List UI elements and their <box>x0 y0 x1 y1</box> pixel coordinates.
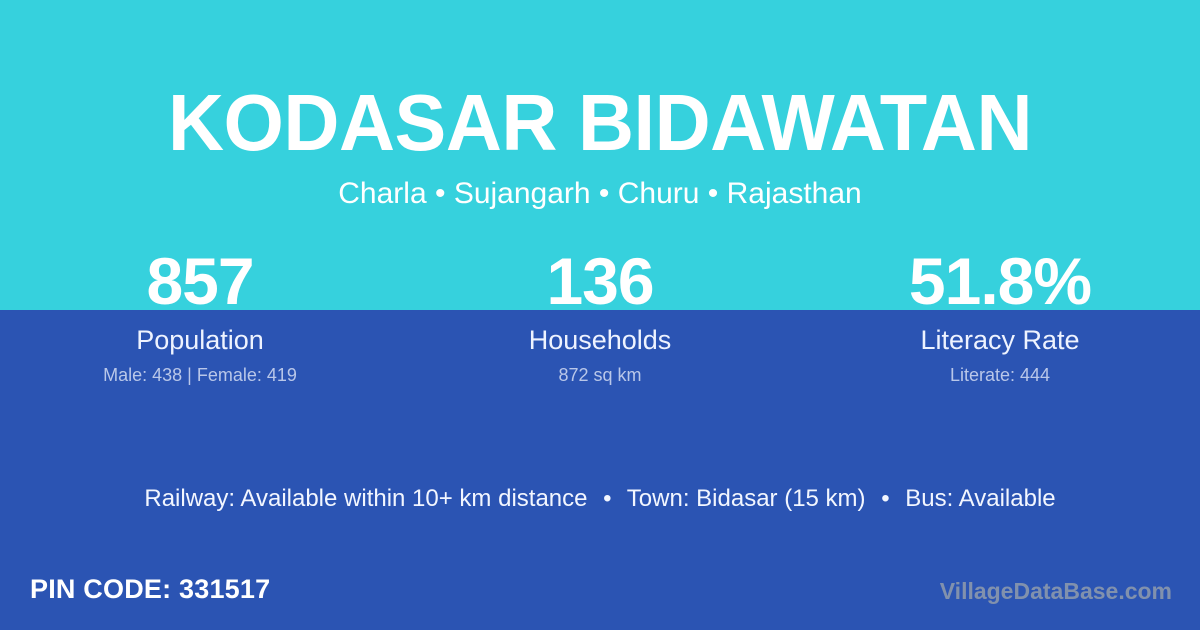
railway-info: Railway: Available within 10+ km distanc… <box>144 485 587 512</box>
literacy-rate-label: Literacy Rate <box>800 325 1200 355</box>
literate-count: Literate: 444 <box>800 364 1200 386</box>
literacy-rate-value: 51.8% <box>800 248 1200 314</box>
population-breakdown: Male: 438 | Female: 419 <box>0 364 400 386</box>
site-watermark: VillageDataBase.com <box>940 576 1172 606</box>
population-value: 857 <box>0 248 400 314</box>
footer: PIN CODE: 331517 VillageDataBase.com <box>0 572 1200 618</box>
page-title: KODASAR BIDAWATAN <box>18 0 1182 166</box>
households-label: Households <box>400 325 800 355</box>
village-info-card: KODASAR BIDAWATAN Charla • Sujangarh • C… <box>0 0 1200 630</box>
stat-population: 857 Population Male: 438 | Female: 419 <box>0 248 400 386</box>
bullet-separator-icon: • <box>872 483 898 515</box>
area-value: 872 sq km <box>400 364 800 386</box>
bus-info: Bus: Available <box>905 485 1055 512</box>
population-label: Population <box>0 325 400 355</box>
town-info: Town: Bidasar (15 km) <box>627 485 866 512</box>
households-value: 136 <box>400 248 800 314</box>
breadcrumb: Charla • Sujangarh • Churu • Rajasthan <box>0 166 1200 212</box>
stat-literacy-rate: 51.8% Literacy Rate Literate: 444 <box>800 248 1200 386</box>
bullet-separator-icon: • <box>594 483 620 515</box>
header: KODASAR BIDAWATAN Charla • Sujangarh • C… <box>0 0 1200 212</box>
stat-households: 136 Households 872 sq km <box>400 248 800 386</box>
infrastructure-line: Railway: Available within 10+ km distanc… <box>0 483 1200 515</box>
pin-code: PIN CODE: 331517 <box>30 572 270 606</box>
stats-row: 857 Population Male: 438 | Female: 419 1… <box>0 248 1200 386</box>
